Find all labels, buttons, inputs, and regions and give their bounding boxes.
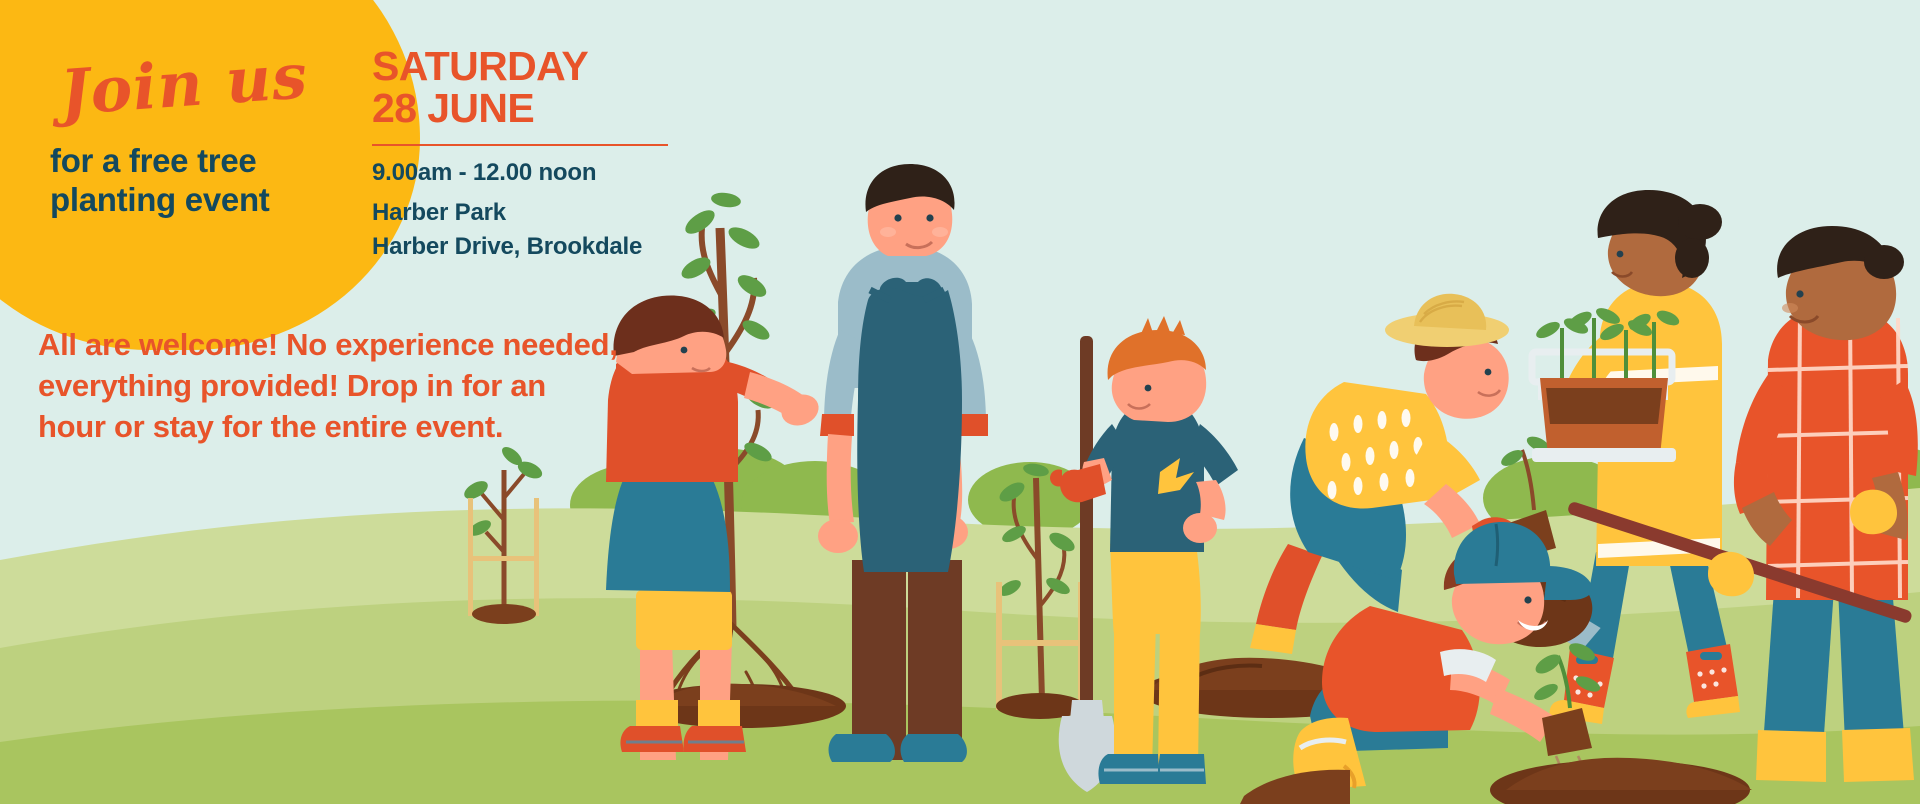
event-venue: Harber Park [372,196,702,230]
blurb-line-2: everything provided! Drop in for an [38,365,638,406]
event-date: 28 JUNE [372,88,702,130]
event-address: Harber Drive, Brookdale [372,230,702,264]
blurb-line-3: hour or stay for the entire event. [38,406,638,447]
event-blurb: All are welcome! No experience needed, e… [38,324,638,448]
heading-divider [372,144,668,146]
event-day-heading: SATURDAY 28 JUNE [372,46,702,130]
badge-subtitle-line-1: for a free tree [50,142,256,179]
event-day: SATURDAY [372,46,702,88]
badge-subtitle-line-2: planting event [50,181,270,218]
boy-blue-shoes [1098,754,1206,784]
tree-planting-event-banner: Join us for a free tree planting event S… [0,0,1920,804]
event-details-block: SATURDAY 28 JUNE 9.00am - 12.00 noon Har… [372,46,702,264]
badge-subtitle: for a free tree planting event [50,142,350,220]
event-time: 9.00am - 12.00 noon [372,156,702,190]
blurb-line-1: All are welcome! No experience needed, [38,324,638,365]
event-detail-lines: 9.00am - 12.00 noon Harber Park Harber D… [372,156,702,264]
